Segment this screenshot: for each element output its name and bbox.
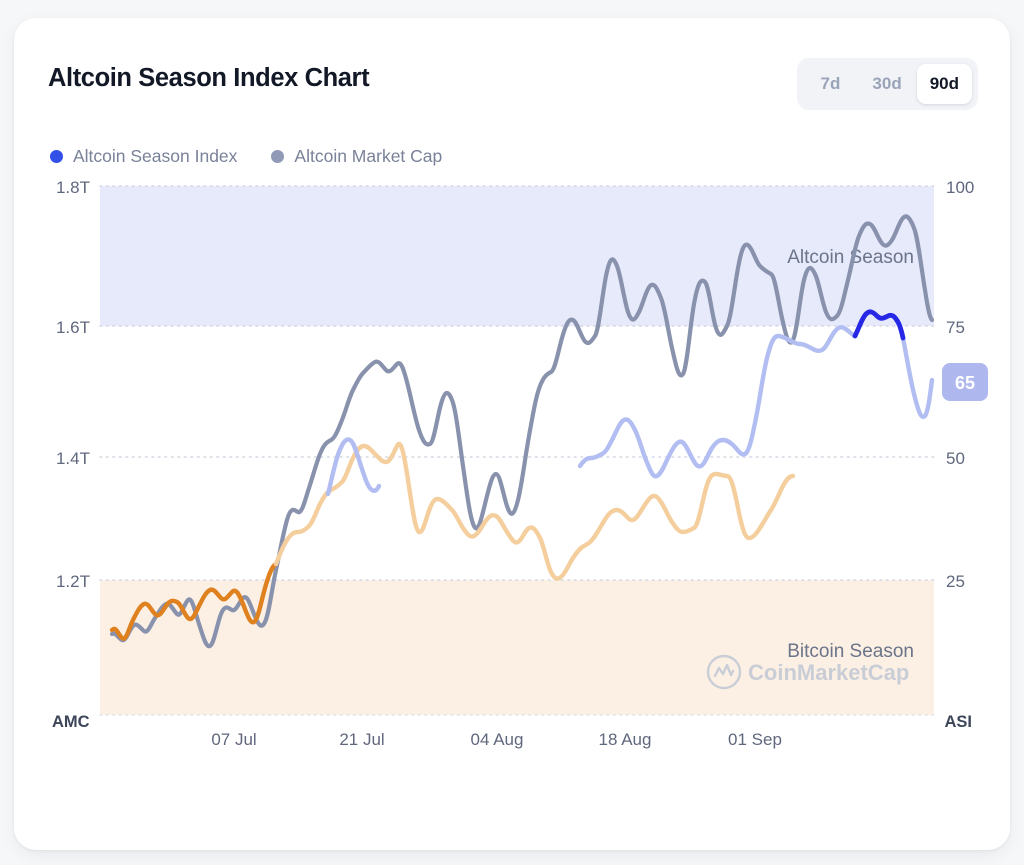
left-axis-labels: 1.8T 1.6T 1.4T 1.2T	[56, 178, 90, 591]
x-axis-labels: AMC ASI 07 Jul 21 Jul 04 Aug 18 Aug 01 S…	[52, 713, 972, 749]
chart-plot-area[interactable]: 1.8T 1.6T 1.4T 1.2T 100 75 50 25 Altcoin…	[14, 18, 1010, 850]
x-axis-tick: 04 Aug	[471, 730, 524, 749]
left-axis-tick: 1.4T	[56, 449, 90, 468]
x-axis-tick: 07 Jul	[211, 730, 256, 749]
right-axis-tick: 25	[946, 572, 965, 591]
current-value-badge: 65	[942, 363, 988, 401]
watermark-text: CoinMarketCap	[748, 660, 909, 685]
left-axis-tick: 1.2T	[56, 572, 90, 591]
badge-value: 65	[955, 373, 975, 393]
x-axis-left-label: AMC	[52, 713, 90, 731]
left-axis-tick: 1.8T	[56, 178, 90, 197]
x-axis-tick: 18 Aug	[599, 730, 652, 749]
x-axis-tick: 01 Sep	[728, 730, 782, 749]
asi-line-25-to-50	[276, 444, 793, 579]
chart-card: Altcoin Season Index Chart 7d 30d 90d Al…	[14, 18, 1010, 850]
x-axis-right-label: ASI	[944, 713, 972, 731]
bitcoin-season-label: Bitcoin Season	[787, 641, 914, 662]
right-axis-tick: 50	[946, 449, 965, 468]
x-axis-tick: 21 Jul	[339, 730, 384, 749]
left-axis-tick: 1.6T	[56, 318, 90, 337]
right-axis-tick: 75	[946, 318, 965, 337]
right-axis-tick: 100	[946, 178, 974, 197]
asi-line-50-to-75	[328, 327, 932, 494]
